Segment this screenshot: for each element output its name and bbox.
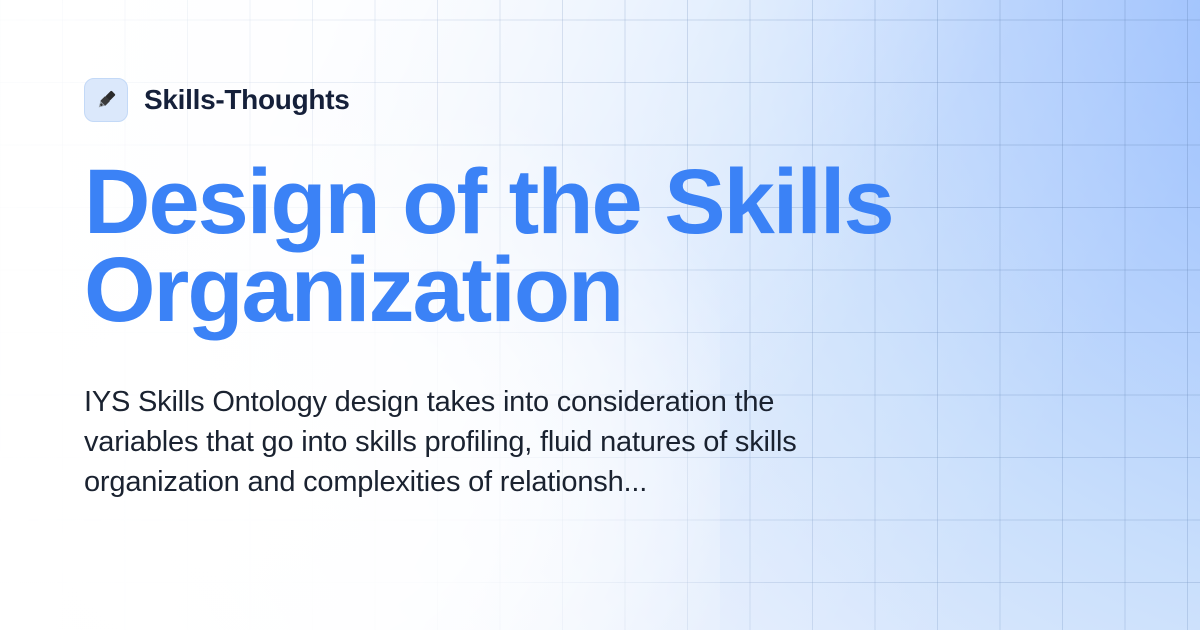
page-title: Design of the Skills Organization	[84, 158, 944, 334]
page-description: IYS Skills Ontology design takes into co…	[84, 382, 884, 502]
brand-row: Skills-Thoughts	[84, 78, 350, 122]
card-content: Skills-Thoughts Design of the Skills Org…	[84, 0, 964, 630]
brand-badge	[84, 78, 128, 122]
og-share-card: Skills-Thoughts Design of the Skills Org…	[0, 0, 1200, 630]
brand-name: Skills-Thoughts	[144, 84, 350, 116]
pen-icon	[93, 87, 119, 113]
